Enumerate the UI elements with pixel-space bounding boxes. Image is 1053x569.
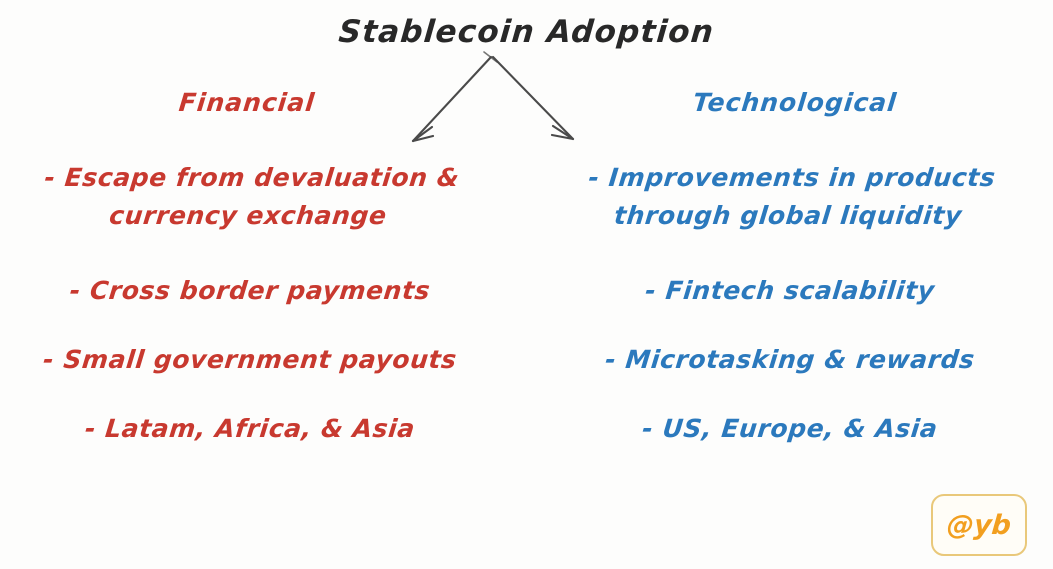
list-item-line: - Latam, Africa, & Asia xyxy=(0,410,502,448)
list-item-line: - US, Europe, & Asia xyxy=(538,410,1042,448)
list-item: - Microtasking & rewards xyxy=(538,341,1042,379)
page-title: Stablecoin Adoption xyxy=(0,14,1053,50)
branch-technological: Technological - Improvements in products… xyxy=(540,88,1040,448)
list-item: - Small government payouts xyxy=(0,341,502,379)
list-item-line: through global liquidity xyxy=(536,197,1040,235)
list-item: - Improvements in products through globa… xyxy=(536,159,1044,235)
watermark-label: @yb xyxy=(946,510,1013,541)
diagram-canvas: Stablecoin Adoption Financial - Escape f… xyxy=(0,0,1053,569)
list-item-line: - Microtasking & rewards xyxy=(538,341,1042,379)
watermark-badge: @yb xyxy=(931,494,1027,556)
list-item: - Fintech scalability xyxy=(538,272,1042,310)
list-item-line: - Fintech scalability xyxy=(538,272,1042,310)
list-item: - US, Europe, & Asia xyxy=(538,410,1042,448)
list-item-line: - Cross border payments xyxy=(0,272,502,310)
list-item-line: currency exchange xyxy=(0,197,500,235)
branch-financial: Financial - Escape from devaluation & cu… xyxy=(0,88,500,448)
list-item: - Latam, Africa, & Asia xyxy=(0,410,502,448)
list-item: - Escape from devaluation & currency exc… xyxy=(0,159,504,235)
branch-items-technological: - Improvements in products through globa… xyxy=(540,159,1040,448)
branch-items-financial: - Escape from devaluation & currency exc… xyxy=(0,159,500,448)
arrow-apex-tick xyxy=(484,52,497,62)
branch-heading-technological: Technological xyxy=(692,88,899,117)
list-item-line: - Escape from devaluation & xyxy=(0,159,504,197)
list-item-line: - Improvements in products xyxy=(540,159,1044,197)
list-item: - Cross border payments xyxy=(0,272,502,310)
branch-heading-financial: Financial xyxy=(177,88,316,117)
list-item-line: - Small government payouts xyxy=(0,341,502,379)
